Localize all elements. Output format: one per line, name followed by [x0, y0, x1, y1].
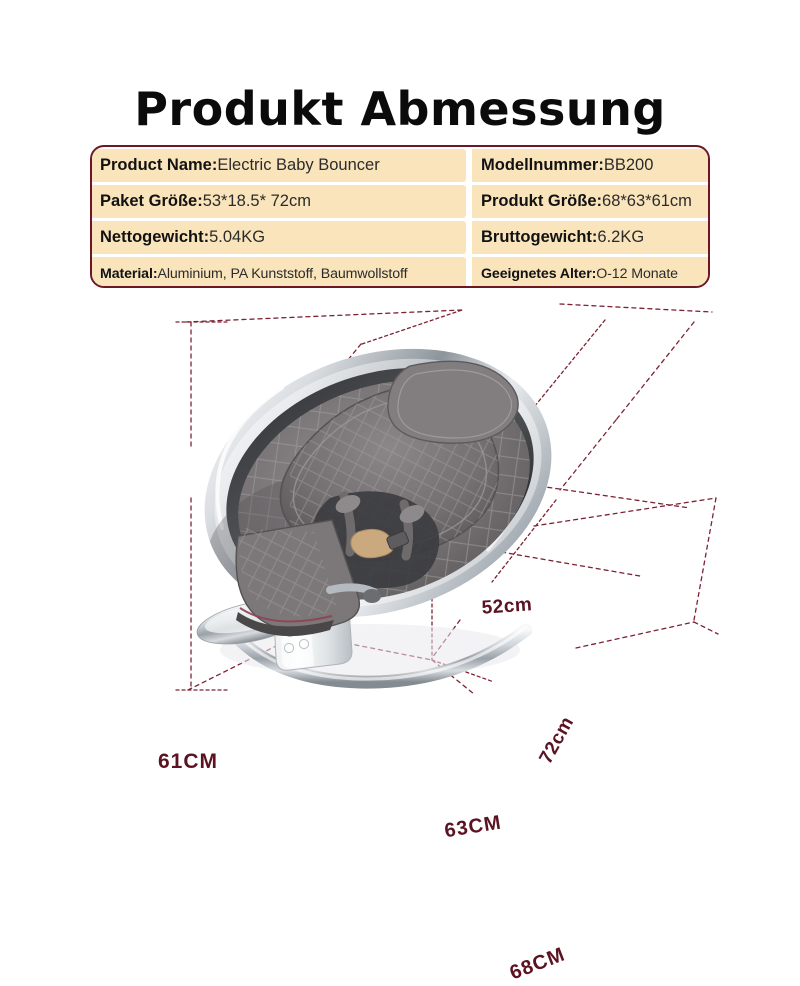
seat-link-joint: [363, 589, 381, 603]
product-illustration: Hot Mom: [168, 304, 588, 682]
product-spec-table: Product Name: Electric Baby Bouncer Mode…: [90, 145, 710, 288]
spec-label: Paket Größe:: [100, 192, 203, 211]
spec-value: Electric Baby Bouncer: [217, 156, 379, 175]
diagram-svg: Hot Mom: [0, 290, 800, 814]
dimension-label-width: 63CM: [440, 811, 506, 844]
spec-value: Aluminium, PA Kunststoff, Baumwollstoff: [157, 266, 407, 282]
dimension-label-height: 61CM: [155, 750, 221, 774]
spec-cell-product-name: Product Name: Electric Baby Bouncer: [92, 149, 466, 182]
spec-cell-product-size: Produkt Größe: 68*63*61cm: [472, 185, 708, 218]
spec-label: Nettogewicht:: [100, 228, 209, 247]
headrest-pad: [388, 361, 518, 443]
spec-cell-package-size: Paket Größe: 53*18.5* 72cm: [92, 185, 466, 218]
spec-cell-gross-weight: Bruttogewicht: 6.2KG: [472, 221, 708, 254]
spec-cell-material: Material: Aluminium, PA Kunststoff, Baum…: [92, 257, 466, 288]
spec-label: Produkt Größe:: [481, 192, 602, 211]
spec-value: BB200: [604, 156, 654, 175]
spec-cell-net-weight: Nettogewicht: 5.04KG: [92, 221, 466, 254]
table-row: Nettogewicht: 5.04KG Bruttogewicht: 6.2K…: [92, 221, 708, 254]
spec-value: 68*63*61cm: [602, 192, 692, 211]
spec-label: Material:: [100, 266, 157, 282]
spec-label: Bruttogewicht:: [481, 228, 597, 247]
spec-label: Modellnummer:: [481, 156, 604, 175]
table-row: Material: Aluminium, PA Kunststoff, Baum…: [92, 257, 708, 288]
spec-value: 6.2KG: [597, 228, 644, 247]
spec-value: 5.04KG: [209, 228, 265, 247]
spec-label: Geeignetes Alter:: [481, 266, 596, 282]
headrest-group: [388, 361, 518, 443]
spec-cell-suitable-age: Geeignetes Alter: O-12 Monate: [472, 257, 708, 288]
spec-label: Product Name:: [100, 156, 217, 175]
product-dimension-diagram: Hot Mom: [0, 290, 800, 814]
dimension-label-base: 68CM: [504, 942, 571, 986]
dimension-label-seat-width: 52cm: [478, 594, 536, 620]
table-row: Paket Größe: 53*18.5* 72cm Produkt Größe…: [92, 185, 708, 218]
table-row: Product Name: Electric Baby Bouncer Mode…: [92, 149, 708, 182]
dimension-line-seat-width: [186, 304, 712, 344]
spec-value: O-12 Monate: [596, 266, 678, 282]
spec-value: 53*18.5* 72cm: [203, 192, 311, 211]
spec-cell-model-number: Modellnummer: BB200: [472, 149, 708, 182]
page-title: Produkt Abmessung: [0, 82, 800, 136]
